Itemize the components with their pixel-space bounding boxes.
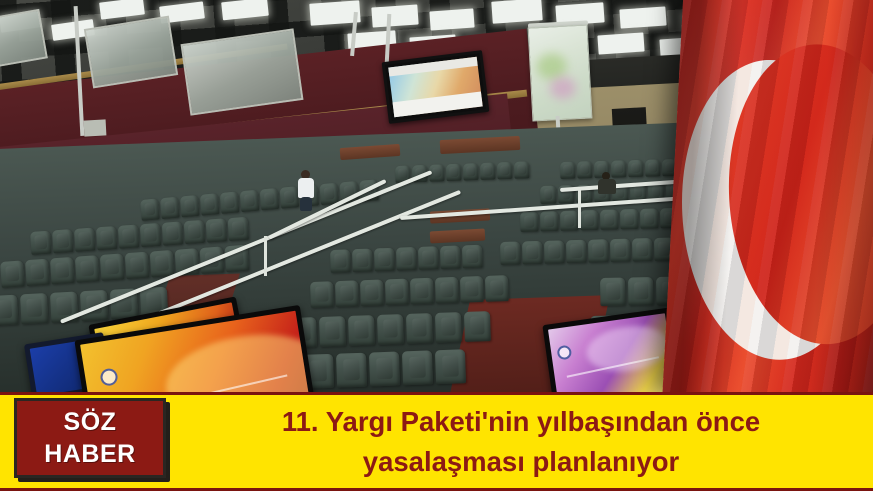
- flag-shading: [662, 0, 873, 405]
- overhead-tv-screen: [382, 50, 490, 124]
- screenshot-root: SÖZ HABER 11. Yargı Paketi'nin yılbaşınd…: [0, 0, 873, 491]
- pole-bracket: [84, 119, 107, 136]
- channel-logo[interactable]: SÖZ HABER: [14, 398, 166, 478]
- slide-emblem-icon: [100, 368, 119, 387]
- person-white-shirt: [296, 170, 318, 212]
- person-dark-shirt: [598, 172, 620, 200]
- logo-line-1: SÖZ: [64, 410, 117, 435]
- headline-line-1: 11. Yargı Paketi'nin yılbaşından önce: [282, 402, 760, 442]
- turkish-flag: [662, 0, 873, 405]
- rail-post: [578, 190, 581, 228]
- headline: 11. Yargı Paketi'nin yılbaşından önce ya…: [176, 396, 866, 488]
- slide-emblem-icon: [556, 344, 572, 360]
- projection-screen: [528, 24, 593, 121]
- rail-post: [264, 236, 267, 276]
- logo-line-2: HABER: [44, 442, 135, 467]
- headline-line-2: yasalaşması planlanıyor: [363, 442, 679, 482]
